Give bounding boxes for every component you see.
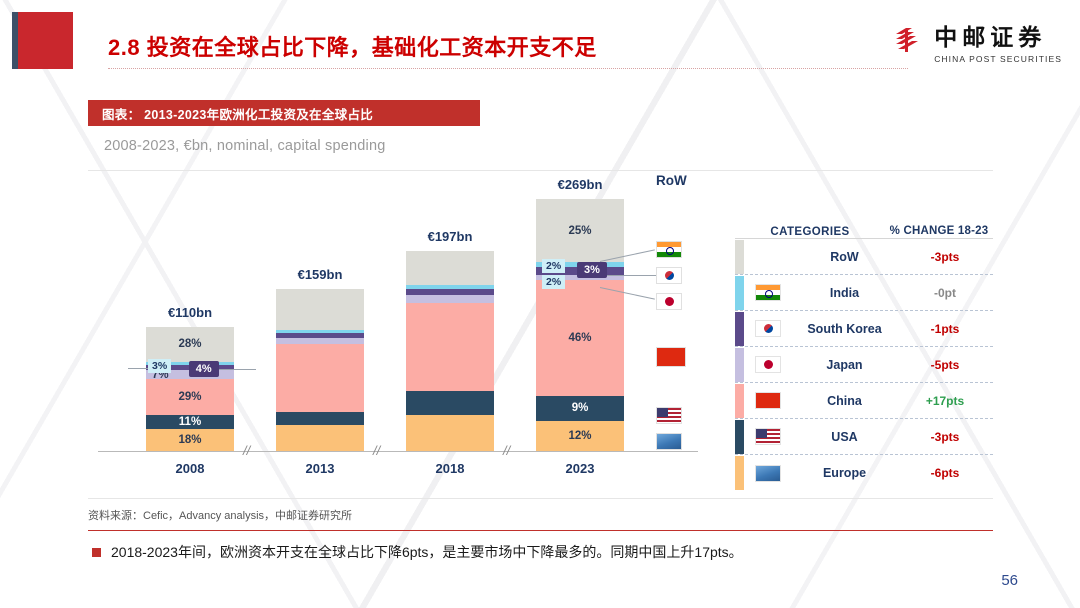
segment-label: 29%: [178, 391, 201, 403]
legend-name: India: [792, 286, 897, 300]
segment-row-2018: [406, 251, 494, 285]
legend-row-china[interactable]: China +17pts: [735, 383, 993, 419]
segment-europe-2018: [406, 415, 494, 451]
segment-china-2023: 46%: [536, 280, 624, 396]
bar-total-2018: €197bn: [428, 229, 473, 244]
stacked-bar-chart: // // // €110bn 28% 7% 29% 11%: [88, 182, 708, 487]
slide-page: 2.8 投资在全球占比下降，基础化工资本开支不足 中邮证券 CHINA POST…: [0, 0, 1080, 608]
legend-col-categories: CATEGORIES: [735, 226, 885, 238]
bar-2008[interactable]: €110bn 28% 7% 29% 11% 18% 3%: [146, 327, 234, 451]
segment-china-2018: [406, 303, 494, 391]
usa-flag-icon: [656, 407, 682, 424]
segment-china-2008: 29%: [146, 379, 234, 415]
axis-break-1: //: [243, 443, 250, 458]
callout-japan-2023: 2%: [542, 275, 565, 289]
source-note: 资料来源：Cefic，Advancy analysis，中邮证券研究所: [88, 507, 352, 523]
legend-table: CATEGORIES % CHANGE 18-23 RoW -3pts Indi…: [735, 196, 993, 491]
legend-flag-cell: [744, 356, 792, 373]
south-korea-flag-icon: [755, 320, 781, 337]
bar-group-2008: €110bn 28% 7% 29% 11% 18% 3%: [146, 327, 234, 451]
segment-usa-2018: [406, 391, 494, 415]
legend-change: -6pts: [897, 466, 993, 480]
legend-change: -5pts: [897, 358, 993, 372]
legend-swatch: [735, 420, 744, 454]
row-label: RoW: [656, 173, 687, 188]
figure-subtitle-divider: [88, 170, 993, 171]
header-divider: [108, 68, 908, 69]
segment-label: 12%: [568, 430, 591, 442]
legend-name: RoW: [792, 250, 897, 264]
legend-row-row[interactable]: RoW -3pts: [735, 239, 993, 275]
x-label-2018: 2018: [436, 461, 465, 476]
legend-name: South Korea: [792, 322, 897, 336]
legend-flag-cell: [744, 465, 792, 482]
bar-2023[interactable]: €269bn 25% 46% 9% 12% 2% 2% 3%: [536, 199, 624, 451]
segment-label: 9%: [572, 402, 589, 414]
legend-change: -1pts: [897, 322, 993, 336]
segment-label: 28%: [178, 338, 201, 350]
segment-europe-2023: 12%: [536, 421, 624, 451]
legend-flag-cell: [744, 392, 792, 409]
china-flag-icon: [656, 347, 686, 367]
bar-group-2018: €197bn 2018: [406, 251, 494, 451]
bar-2013[interactable]: €159bn 2013: [276, 289, 364, 451]
bar-flag-column: RoW: [648, 199, 718, 451]
legend-swatch: [735, 240, 744, 274]
bar-group-2013: €159bn 2013: [276, 289, 364, 451]
axis-break-2: //: [373, 443, 380, 458]
japan-flag-icon: [755, 356, 781, 373]
legend-name: USA: [792, 430, 897, 444]
segment-europe-2013: [276, 425, 364, 451]
summary-bullet: 2018-2023年间，欧洲资本开支在全球占比下降6pts，是主要市场中下降最多…: [92, 543, 743, 563]
legend-name: China: [792, 394, 897, 408]
logo-chinese-text: 中邮证券: [934, 18, 1062, 52]
europe-flag-icon: [755, 465, 781, 482]
india-flag-icon: [755, 284, 781, 301]
bullet-square-icon: [92, 548, 101, 557]
segment-label: 25%: [568, 225, 591, 237]
company-logo: 中邮证券 CHINA POST SECURITIES: [892, 18, 1062, 64]
segment-row-2013: [276, 289, 364, 330]
page-title: 2.8 投资在全球占比下降，基础化工资本开支不足: [108, 30, 597, 62]
bar-total-2008: €110bn: [168, 305, 212, 320]
legend-flag-cell: [744, 428, 792, 445]
x-label-2023: 2023: [566, 461, 595, 476]
legend-change: -3pts: [897, 430, 993, 444]
page-number: 56: [1001, 572, 1018, 589]
legend-col-change: % CHANGE 18-23: [885, 224, 993, 238]
legend-row-japan[interactable]: Japan -5pts: [735, 347, 993, 383]
legend-change: +17pts: [897, 394, 993, 408]
bar-2018[interactable]: €197bn 2018: [406, 251, 494, 451]
segment-row-2023: 25%: [536, 199, 624, 262]
segment-europe-2008: 18%: [146, 429, 234, 451]
logo-english-text: CHINA POST SECURITIES: [934, 54, 1062, 64]
badge-south-korea-2023: 3%: [577, 262, 607, 278]
leader-line: [600, 275, 656, 276]
legend-swatch: [735, 384, 744, 418]
segment-label: 11%: [179, 416, 201, 428]
bullet-divider: [88, 530, 993, 531]
callout-india-2023: 2%: [542, 259, 565, 273]
usa-flag-icon: [755, 428, 781, 445]
segment-label: 46%: [568, 332, 591, 344]
bar-total-2023: €269bn: [558, 177, 603, 192]
legend-swatch: [735, 312, 744, 346]
x-label-2013: 2013: [306, 461, 335, 476]
legend-flag-cell: [744, 284, 792, 301]
legend-row-india[interactable]: India -0pt: [735, 275, 993, 311]
legend-flag-cell: [744, 320, 792, 337]
segment-usa-2013: [276, 412, 364, 425]
japan-flag-icon: [656, 293, 682, 310]
legend-change: -3pts: [897, 250, 993, 264]
south-korea-flag-icon: [656, 267, 682, 284]
legend-name: Japan: [792, 358, 897, 372]
legend-row-usa[interactable]: USA -3pts: [735, 419, 993, 455]
segment-usa-2023: 9%: [536, 396, 624, 421]
segment-row-2008: 28%: [146, 327, 234, 362]
post-logo-icon: [892, 24, 926, 58]
bullet-text: 2018-2023年间，欧洲资本开支在全球占比下降6pts，是主要市场中下降最多…: [111, 543, 743, 563]
figure-caption-bar: 图表： 2013-2023年欧洲化工投资及在全球占比: [88, 100, 480, 126]
source-divider: [88, 498, 993, 499]
legend-swatch: [735, 348, 744, 382]
legend-change: -0pt: [897, 286, 993, 300]
segment-japan-2018: [406, 295, 494, 303]
legend-swatch: [735, 456, 744, 490]
leader-line: [218, 369, 256, 370]
segment-usa-2008: 11%: [146, 415, 234, 429]
x-label-2008: 2008: [176, 461, 205, 476]
axis-break-3: //: [503, 443, 510, 458]
figure-caption-text: 图表： 2013-2023年欧洲化工投资及在全球占比: [102, 104, 373, 123]
legend-name: Europe: [792, 466, 897, 480]
chart-baseline-axis: [98, 451, 698, 452]
china-flag-icon: [755, 392, 781, 409]
figure-subtitle: 2008-2023, €bn, nominal, capital spendin…: [104, 138, 385, 154]
callout-india-2008: 3%: [148, 359, 171, 373]
bar-group-2023: €269bn 25% 46% 9% 12% 2% 2% 3%: [536, 199, 624, 451]
legend-row-europe[interactable]: Europe -6pts: [735, 455, 993, 491]
europe-flag-icon: [656, 433, 682, 450]
legend-swatch: [735, 276, 744, 310]
segment-label: 18%: [178, 434, 201, 446]
legend-row-south-korea[interactable]: South Korea -1pts: [735, 311, 993, 347]
legend-header-row: CATEGORIES % CHANGE 18-23: [735, 196, 993, 238]
bar-total-2013: €159bn: [298, 267, 343, 282]
header-red-block: [18, 12, 73, 69]
india-flag-icon: [656, 241, 682, 258]
segment-china-2013: [276, 344, 364, 412]
badge-south-korea-2008: 4%: [189, 361, 219, 377]
